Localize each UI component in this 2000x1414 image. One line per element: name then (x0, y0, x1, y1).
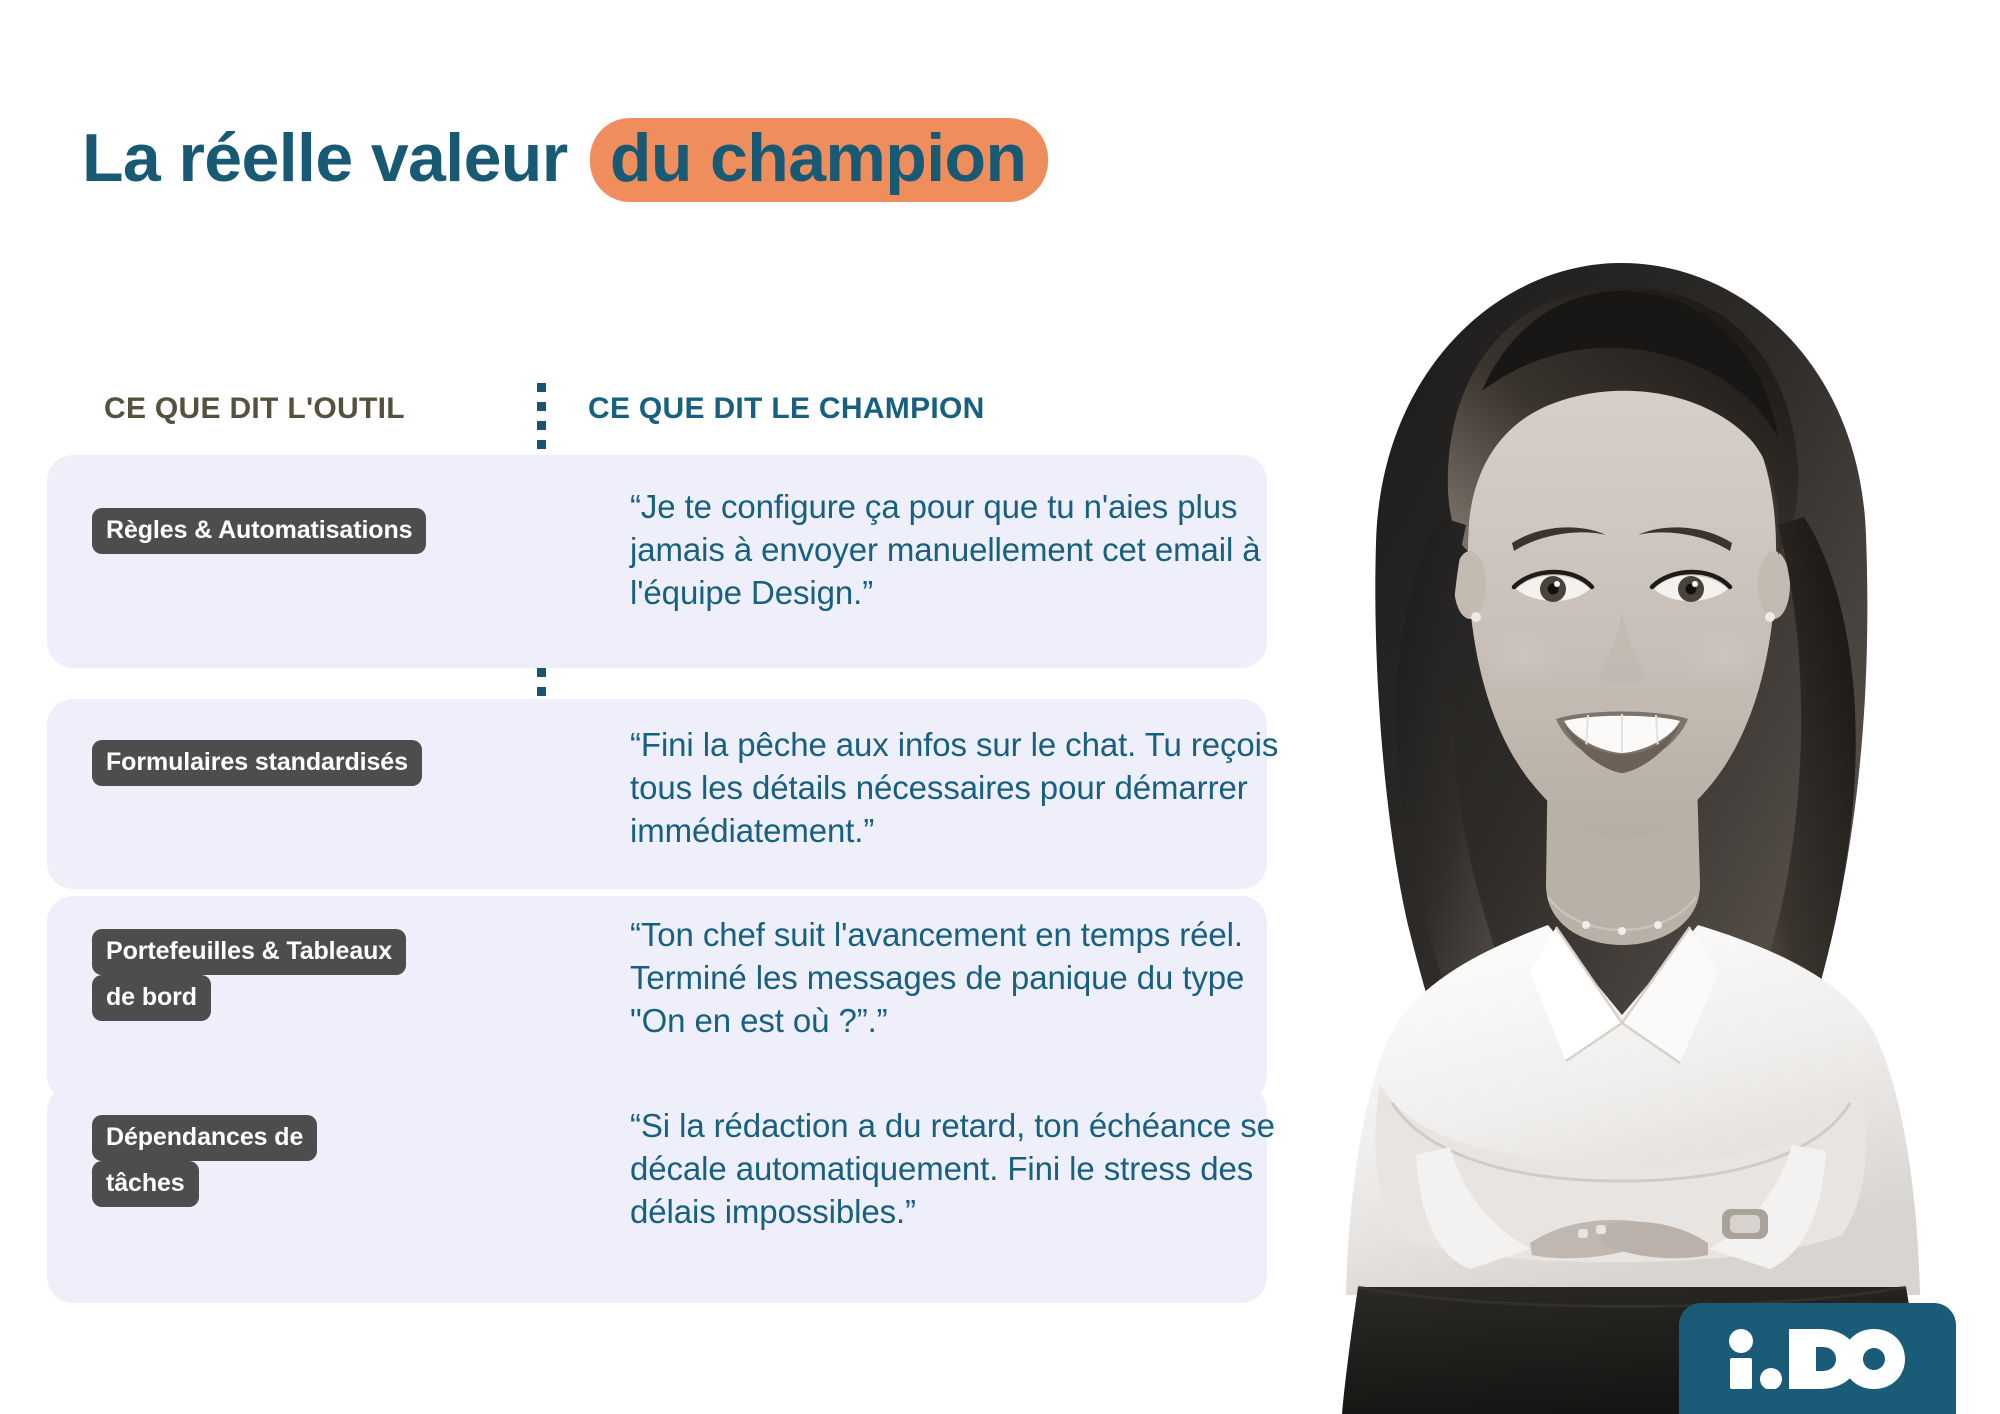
tool-label-group: Formulaires standardisés (92, 740, 522, 786)
champion-quote: “Fini la pêche aux infos sur le chat. Tu… (630, 724, 1280, 853)
tool-label-group: Règles & Automatisations (92, 508, 522, 554)
tool-label-group: Dépendances de tâches (92, 1115, 522, 1207)
tool-label-chip: Règles & Automatisations (92, 508, 426, 554)
tool-label-chip: de bord (92, 975, 211, 1021)
tool-label-chip: tâches (92, 1161, 199, 1207)
champion-quote: “Je te configure ça pour que tu n'aies p… (630, 486, 1280, 615)
page-title-plain: La réelle valeur (82, 120, 586, 196)
page-title-highlight: du champion (590, 118, 1049, 202)
champion-quote: “Si la rédaction a du retard, ton échéan… (630, 1105, 1280, 1234)
portrait-photo (1230, 225, 2000, 1414)
table-row: Règles & Automatisations “Je te configur… (47, 455, 1267, 668)
table-row: Portefeuilles & Tableaux de bord “Ton ch… (47, 896, 1267, 1101)
tool-label-chip: Formulaires standardisés (92, 740, 422, 786)
table-row: Dépendances de tâches “Si la rédaction a… (47, 1085, 1267, 1303)
slide-canvas: La réelle valeur du champion CE QUE DIT … (0, 0, 2000, 1414)
ido-logo-icon (1727, 1329, 1909, 1389)
table-row: Formulaires standardisés “Fini la pêche … (47, 699, 1267, 889)
logo-ido[interactable] (1679, 1303, 1956, 1414)
tool-label-chip: Portefeuilles & Tableaux (92, 929, 406, 975)
column-header-champion: CE QUE DIT LE CHAMPION (588, 392, 985, 426)
champion-quote: “Ton chef suit l'avancement en temps rée… (630, 914, 1280, 1043)
column-header-tool: CE QUE DIT L'OUTIL (104, 392, 405, 426)
tool-label-chip: Dépendances de (92, 1115, 317, 1161)
tool-label-group: Portefeuilles & Tableaux de bord (92, 929, 522, 1021)
page-title: La réelle valeur du champion (82, 118, 1048, 202)
